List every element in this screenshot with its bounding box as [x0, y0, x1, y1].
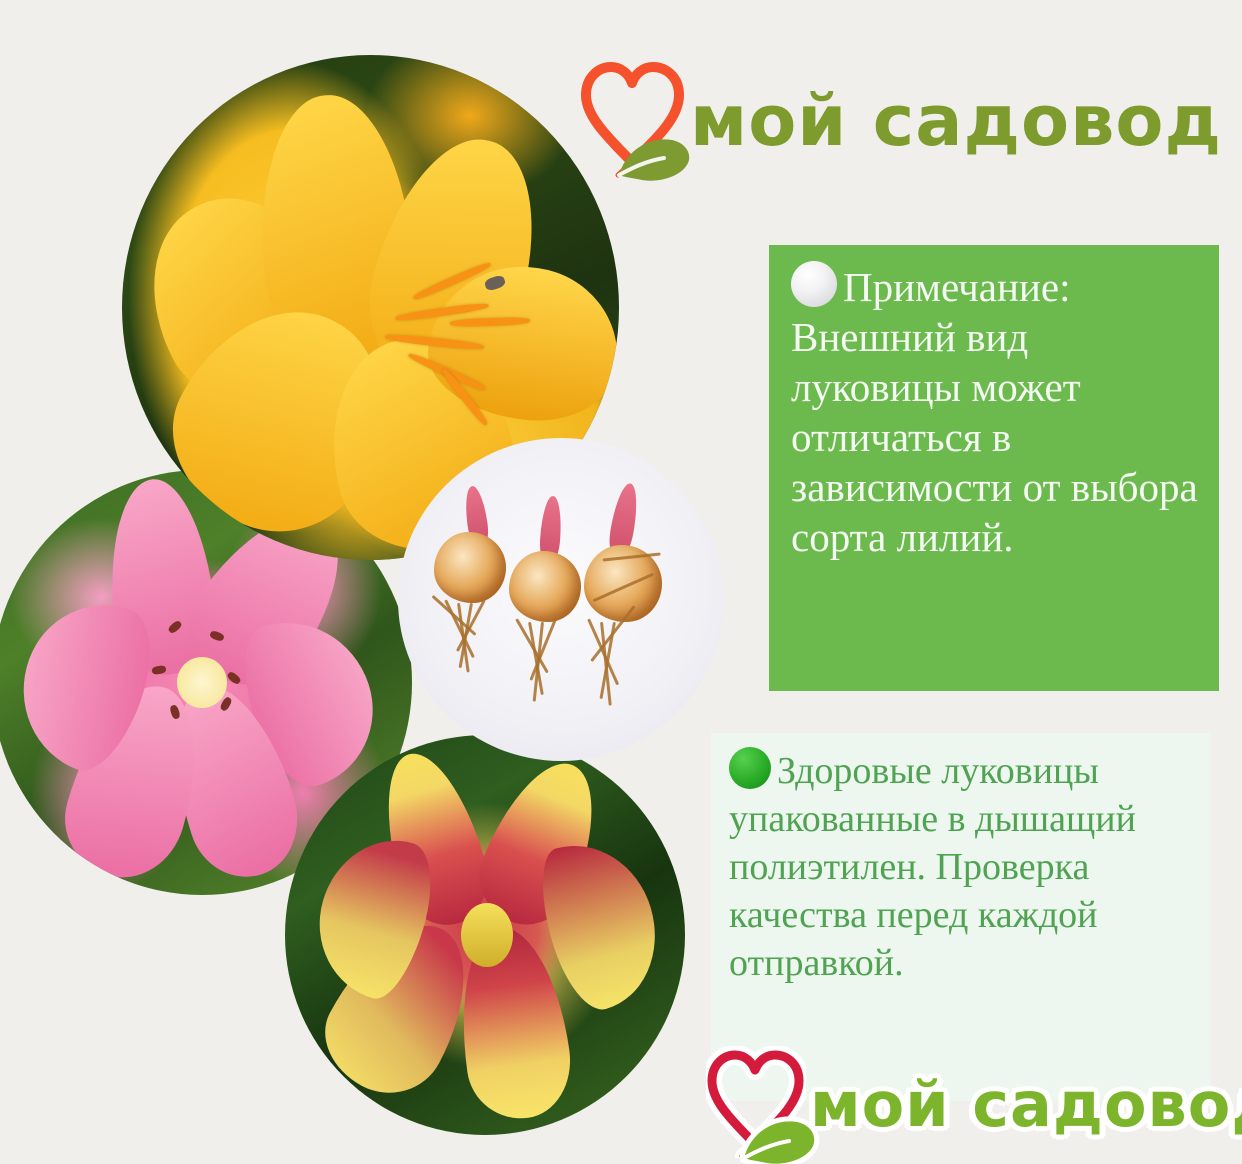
heart-outline-icon [580, 58, 686, 183]
promo-banner: мой садовод Примечание: Внешний вид луко… [0, 0, 1242, 1164]
note-primary-text: Примечание: Внешний вид луковицы может о… [791, 264, 1198, 560]
photo-bicolor-lily [285, 735, 685, 1135]
note-secondary-body: Здоровые луковицы упакованные в дышащий … [729, 747, 1195, 987]
brand-logo-bottom[interactable]: мой садовод [706, 1046, 1242, 1163]
leaf-icon [616, 128, 694, 189]
lily-bulb [509, 551, 581, 622]
brand-logo-bottom-text: мой садовод [810, 1074, 1242, 1136]
flower-center [461, 903, 513, 967]
note-secondary-text: Здоровые луковицы упакованные в дышащий … [729, 750, 1136, 984]
leaf-icon [740, 1110, 820, 1164]
lily-bulb [434, 532, 506, 603]
flower-center [177, 657, 227, 708]
brand-logo-top-text: мой садовод [690, 86, 1222, 156]
heart-outline-icon [706, 1046, 806, 1163]
note-primary-body: Примечание: Внешний вид луковицы может о… [791, 261, 1199, 562]
green-circle-bullet-icon [729, 747, 771, 789]
photo-lily-bulbs [398, 438, 724, 761]
white-circle-bullet-icon [791, 261, 837, 307]
note-primary: Примечание: Внешний вид луковицы может о… [769, 245, 1219, 691]
brand-logo-top[interactable]: мой садовод [580, 58, 1222, 183]
